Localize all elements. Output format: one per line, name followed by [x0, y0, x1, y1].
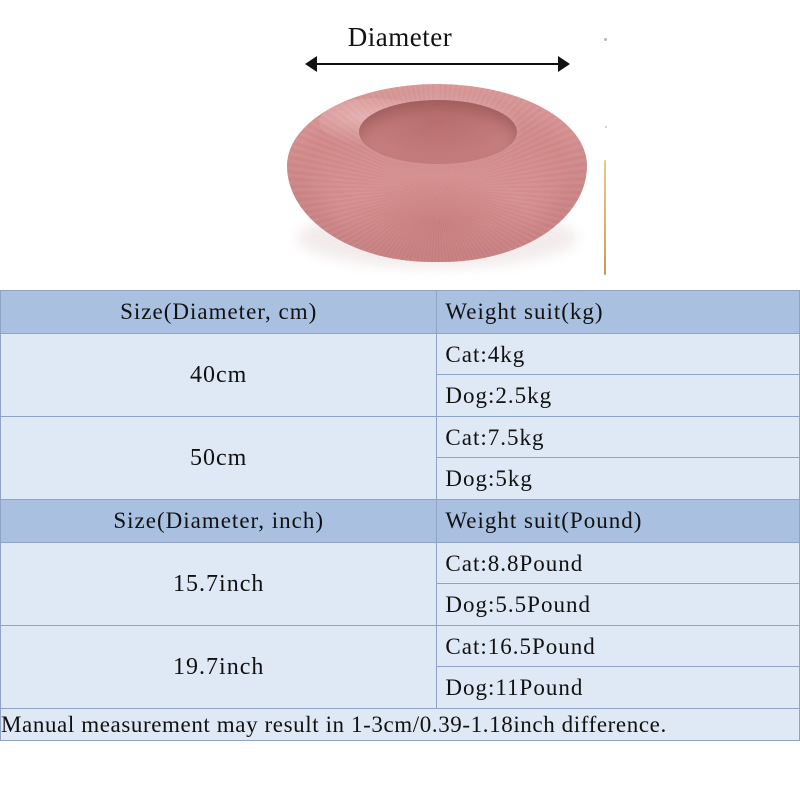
header-weight-pound-label: Weight suit(Pound)	[437, 508, 799, 534]
size-value-40cm: 40cm	[1, 362, 436, 389]
cell-size-50cm: 50cm	[1, 417, 437, 500]
table-note-row: Manual measurement may result in 1-3cm/0…	[1, 709, 800, 741]
image-speck	[605, 126, 607, 128]
table-row: 15.7inch Cat:8.8Pound Dog:5.5Pound	[1, 543, 800, 626]
weight-dog-19-7inch: Dog:11Pound	[437, 667, 799, 708]
weight-dog-40cm: Dog:2.5kg	[437, 375, 799, 416]
size-value-19-7inch: 19.7inch	[1, 654, 436, 681]
measurement-note: Manual measurement may result in 1-3cm/0…	[1, 709, 800, 741]
header-cell-size-cm: Size(Diameter, cm)	[1, 291, 437, 334]
image-speck	[604, 38, 607, 41]
size-chart-page: Diameter Size(Diameter	[0, 0, 800, 800]
weight-cat-40cm: Cat:4kg	[437, 334, 799, 375]
weight-dog-15-7inch: Dog:5.5Pound	[437, 584, 799, 625]
header-cell-weight-kg: Weight suit(kg)	[437, 291, 800, 334]
arrow-right-head-icon	[558, 56, 570, 72]
weight-cat-50cm: Cat:7.5kg	[437, 417, 799, 458]
cell-weight-50cm: Cat:7.5kg Dog:5kg	[437, 417, 800, 500]
size-table: Size(Diameter, cm) Weight suit(kg) 40cm …	[0, 290, 800, 741]
bed-inner-hollow	[359, 100, 517, 164]
header-size-inch-label: Size(Diameter, inch)	[1, 508, 436, 534]
cell-size-15-7inch: 15.7inch	[1, 543, 437, 626]
table-header-row: Size(Diameter, inch) Weight suit(Pound)	[1, 500, 800, 543]
diameter-label: Diameter	[0, 22, 800, 53]
table-row: 50cm Cat:7.5kg Dog:5kg	[1, 417, 800, 500]
pet-bed-illustration	[287, 78, 587, 273]
weight-dog-50cm: Dog:5kg	[437, 458, 799, 499]
size-value-15-7inch: 15.7inch	[1, 571, 436, 598]
cell-size-40cm: 40cm	[1, 334, 437, 417]
cell-weight-15-7inch: Cat:8.8Pound Dog:5.5Pound	[437, 543, 800, 626]
size-value-50cm: 50cm	[1, 445, 436, 472]
diameter-arrow	[305, 54, 570, 74]
cell-weight-40cm: Cat:4kg Dog:2.5kg	[437, 334, 800, 417]
product-image-area: Diameter	[0, 0, 800, 290]
header-weight-kg-label: Weight suit(kg)	[437, 299, 799, 325]
table-row: 19.7inch Cat:16.5Pound Dog:11Pound	[1, 626, 800, 709]
header-cell-size-inch: Size(Diameter, inch)	[1, 500, 437, 543]
header-size-cm-label: Size(Diameter, cm)	[1, 299, 436, 325]
arrow-line	[313, 63, 562, 65]
header-cell-weight-pound: Weight suit(Pound)	[437, 500, 800, 543]
weight-cat-15-7inch: Cat:8.8Pound	[437, 543, 799, 584]
loose-thread	[604, 160, 606, 275]
cell-size-19-7inch: 19.7inch	[1, 626, 437, 709]
weight-cat-19-7inch: Cat:16.5Pound	[437, 626, 799, 667]
table-header-row: Size(Diameter, cm) Weight suit(kg)	[1, 291, 800, 334]
cell-weight-19-7inch: Cat:16.5Pound Dog:11Pound	[437, 626, 800, 709]
table-row: 40cm Cat:4kg Dog:2.5kg	[1, 334, 800, 417]
